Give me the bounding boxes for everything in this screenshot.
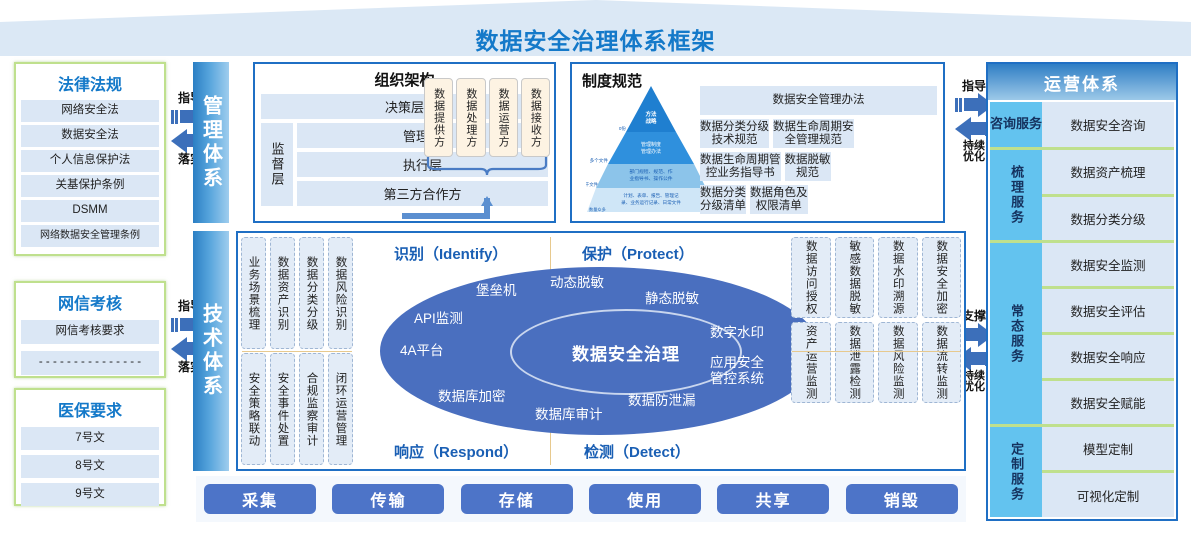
medical-insurance-item[interactable]: 9号文 [21, 483, 159, 506]
panel-system-norms: 制度规范 方法 战略 0份 管理制度 管理办法 多个文件 部门规程、规范、作 业… [570, 62, 945, 223]
svg-text:0份: 0份 [619, 125, 627, 132]
tech-capability[interactable]: 数据水印溯源 [878, 237, 918, 318]
svg-text:业指导书、操作公件: 业指导书、操作公件 [629, 175, 672, 182]
arrow-label-back-line2: 优化 [963, 152, 985, 164]
tech-capability[interactable]: 数据资产识别 [270, 237, 295, 349]
svg-text:方法: 方法 [645, 110, 657, 118]
page-title: 数据安全治理体系框架 [0, 22, 1191, 56]
lifecycle-stage[interactable]: 销毁 [846, 484, 958, 514]
quadrant-label-protect: 保护（Protect） [582, 243, 694, 264]
header-banner: 数据安全治理体系框架 [0, 0, 1191, 56]
data-party[interactable]: 数据提供方 [424, 78, 453, 157]
norm-item[interactable]: 数据脱敏规范 [785, 152, 831, 181]
tech-right-row-divider [792, 351, 960, 352]
spine-technical-system: 技术体系 [193, 231, 229, 471]
governance-ellipse: 数据安全治理 堡垒机 动态脱敏 静态脱敏 API监测 数字水印 4A平台 应用安… [380, 267, 820, 435]
tech-capability[interactable]: 数据风险监测 [878, 322, 918, 403]
tech-capability[interactable]: 数据访问授权 [791, 237, 831, 318]
ellipse-tag[interactable]: 数据库审计 [535, 407, 603, 423]
tech-capability[interactable]: 业务场景梳理 [241, 237, 266, 349]
data-party[interactable]: 数据处理方 [456, 78, 485, 157]
svg-text:管理制度: 管理制度 [641, 141, 661, 148]
nist-framework: 识别（Identify） 保护（Protect） 响应（Respond） 检测（… [356, 233, 788, 469]
arrow-label-back-line2: 优化 [963, 382, 985, 394]
ellipse-tag[interactable]: 数据防泄漏 [628, 393, 696, 409]
law-item[interactable]: 个人信息保护法 [21, 150, 159, 172]
arrow-label-forward: 指导 [962, 80, 986, 93]
lifecycle-stage[interactable]: 共享 [717, 484, 829, 514]
law-item[interactable]: 网络数据安全管理条例 [21, 225, 159, 247]
quadrant-label-identify: 识别（Identify） [394, 243, 507, 264]
data-party-boxes: 数据提供方 数据处理方 数据运营方 数据接收方 [424, 78, 550, 157]
ellipse-tag[interactable]: 4A平台 [400, 343, 444, 359]
svg-text:部门规程、规范、作: 部门规程、规范、作 [629, 168, 672, 175]
ops-service-item[interactable]: 数据安全响应 [1042, 335, 1174, 381]
norm-item[interactable]: 数据生命周期安全管理规范 [773, 119, 854, 148]
svg-text:数量众多: 数量众多 [589, 206, 606, 213]
tech-capability[interactable]: 安全策略联动 [241, 353, 266, 465]
org-supervisor-layer[interactable]: 监督层 [261, 123, 293, 206]
ops-service-item[interactable]: 可视化定制 [1042, 473, 1174, 517]
tech-capability[interactable]: 数据分类分级 [299, 237, 324, 349]
svg-text:若干文件: 若干文件 [586, 181, 599, 188]
tech-left-bottom-row: 安全策略联动 安全事件处置 合规监察审计 闭环运营管理 [241, 353, 353, 465]
law-item[interactable]: DSMM [21, 200, 159, 222]
norm-item[interactable]: 数据安全管理办法 [700, 86, 937, 115]
ops-service-item[interactable]: 数据资产梳理 [1042, 150, 1174, 197]
tech-capability[interactable]: 安全事件处置 [270, 353, 295, 465]
ellipse-tag[interactable]: 数据库加密 [438, 389, 506, 405]
tech-capability[interactable]: 合规监察审计 [299, 353, 324, 465]
ops-service-item[interactable]: 数据分类分级 [1042, 197, 1174, 241]
norm-item[interactable]: 数据分类分级技术规范 [700, 119, 769, 148]
tech-capability[interactable]: 数据安全加密 [922, 237, 962, 318]
svg-text:战略: 战略 [645, 117, 657, 125]
law-item[interactable]: 关基保护条例 [21, 175, 159, 197]
ops-group-inventory: 梳理服务 数据资产梳理 数据分类分级 [990, 150, 1174, 243]
tech-right-top-row: 数据访问授权 敏感数据脱敏 数据水印溯源 数据安全加密 [791, 237, 961, 318]
svg-text:计划、表单、报告、管理记: 计划、表单、报告、管理记 [623, 192, 679, 199]
ellipse-tag[interactable]: 应用安全管控系统 [710, 355, 764, 386]
svg-text:管理办法: 管理办法 [641, 148, 661, 155]
ellipse-tag[interactable]: 数字水印 [710, 325, 764, 341]
norm-item[interactable]: 数据生命周期管控业务指导书 [700, 152, 781, 181]
panel-medical-insurance-title: 医保要求 [21, 397, 159, 421]
svg-text:录、业务运行记录、日常文件: 录、业务运行记录、日常文件 [621, 199, 681, 206]
lifecycle-stage[interactable]: 采集 [204, 484, 316, 514]
tech-capability[interactable]: 数据风险识别 [328, 237, 353, 349]
tech-capability[interactable]: 闭环运营管理 [328, 353, 353, 465]
tech-capability[interactable]: 敏感数据脱敏 [835, 237, 875, 318]
lifecycle-stage[interactable]: 使用 [589, 484, 701, 514]
norm-item[interactable]: 数据角色及权限清单 [750, 185, 808, 214]
tech-capability[interactable]: 数据流转监测 [922, 322, 962, 403]
medical-insurance-item[interactable]: 7号文 [21, 427, 159, 450]
ops-category-label: 咨询服务 [990, 102, 1042, 147]
lifecycle-stage[interactable]: 存储 [461, 484, 573, 514]
quadrant-label-detect: 检测（Detect） [584, 441, 690, 462]
medical-insurance-item[interactable]: 8号文 [21, 455, 159, 478]
ops-service-item[interactable]: 数据安全赋能 [1042, 381, 1174, 424]
norms-grid: 数据安全管理办法 数据分类分级技术规范 数据生命周期安全管理规范 数据生命周期管… [700, 86, 937, 215]
tech-right-bottom-row: 资产运营监测 数据泄露检测 数据风险监测 数据流转监测 [791, 322, 961, 403]
ops-category-label: 常态服务 [990, 243, 1042, 423]
svg-text:多个文件: 多个文件 [590, 157, 609, 164]
operations-system-title: 运营体系 [988, 64, 1176, 100]
panel-cyber-assessment-title: 网信考核 [21, 290, 159, 314]
ellipse-tag[interactable]: 堡垒机 [476, 283, 517, 299]
spine-management-system: 管理体系 [193, 62, 229, 223]
lifecycle-bar: 采集 传输 存储 使用 共享 销毁 [196, 476, 966, 522]
tech-left-row-divider [242, 351, 352, 352]
tech-left-top-row: 业务场景梳理 数据资产识别 数据分类分级 数据风险识别 [241, 237, 353, 349]
law-item[interactable]: 数据安全法 [21, 125, 159, 147]
ops-service-item[interactable]: 数据安全评估 [1042, 289, 1174, 335]
org-to-party-connector [400, 196, 550, 222]
ops-group-custom: 定制服务 模型定制 可视化定制 [990, 427, 1174, 517]
lifecycle-stage[interactable]: 传输 [332, 484, 444, 514]
norm-item[interactable]: 数据分类分级清单 [700, 185, 746, 214]
law-item[interactable]: 网络安全法 [21, 100, 159, 122]
data-party[interactable]: 数据运营方 [489, 78, 518, 157]
ops-service-item[interactable]: 模型定制 [1042, 427, 1174, 474]
ops-service-item[interactable]: 数据安全监测 [1042, 243, 1174, 289]
panel-cyber-assessment: 网信考核 网信考核要求 - - - - - - - - - - - - - - … [14, 281, 166, 378]
ellipse-tag[interactable]: 静态脱敏 [645, 291, 699, 307]
ellipse-tag[interactable]: API监测 [414, 311, 463, 327]
panel-operations-system: 运营体系 咨询服务 数据安全咨询 梳理服务 数据资产梳理 数据分类分级 常态服务… [986, 62, 1178, 521]
norms-pyramid: 方法 战略 0份 管理制度 管理办法 多个文件 部门规程、规范、作 业指导书、操… [586, 84, 716, 216]
quadrant-label-respond: 响应（Respond） [394, 441, 518, 462]
tech-capability[interactable]: 数据泄露检测 [835, 322, 875, 403]
ops-category-label: 梳理服务 [990, 150, 1042, 240]
ops-category-label: 定制服务 [990, 427, 1042, 517]
tech-capability[interactable]: 资产运营监测 [791, 322, 831, 403]
ops-group-consulting: 咨询服务 数据安全咨询 [990, 102, 1174, 150]
cyber-assessment-item[interactable]: - - - - - - - - - - - - - - - [21, 351, 159, 375]
governance-core-label: 数据安全治理 [510, 309, 742, 395]
panel-medical-insurance: 医保要求 7号文 8号文 9号文 [14, 388, 166, 506]
panel-laws: 法律法规 网络安全法 数据安全法 个人信息保护法 关基保护条例 DSMM 网络数… [14, 62, 166, 256]
party-brace [424, 157, 550, 179]
ops-service-item[interactable]: 数据安全咨询 [1042, 102, 1174, 147]
data-party[interactable]: 数据接收方 [521, 78, 550, 157]
ops-group-regular: 常态服务 数据安全监测 数据安全评估 数据安全响应 数据安全赋能 [990, 243, 1174, 426]
ellipse-tag[interactable]: 动态脱敏 [550, 275, 604, 291]
panel-technical-system: 业务场景梳理 数据资产识别 数据分类分级 数据风险识别 安全策略联动 安全事件处… [236, 231, 966, 471]
panel-laws-title: 法律法规 [21, 71, 159, 95]
cyber-assessment-item[interactable]: 网信考核要求 [21, 320, 159, 344]
